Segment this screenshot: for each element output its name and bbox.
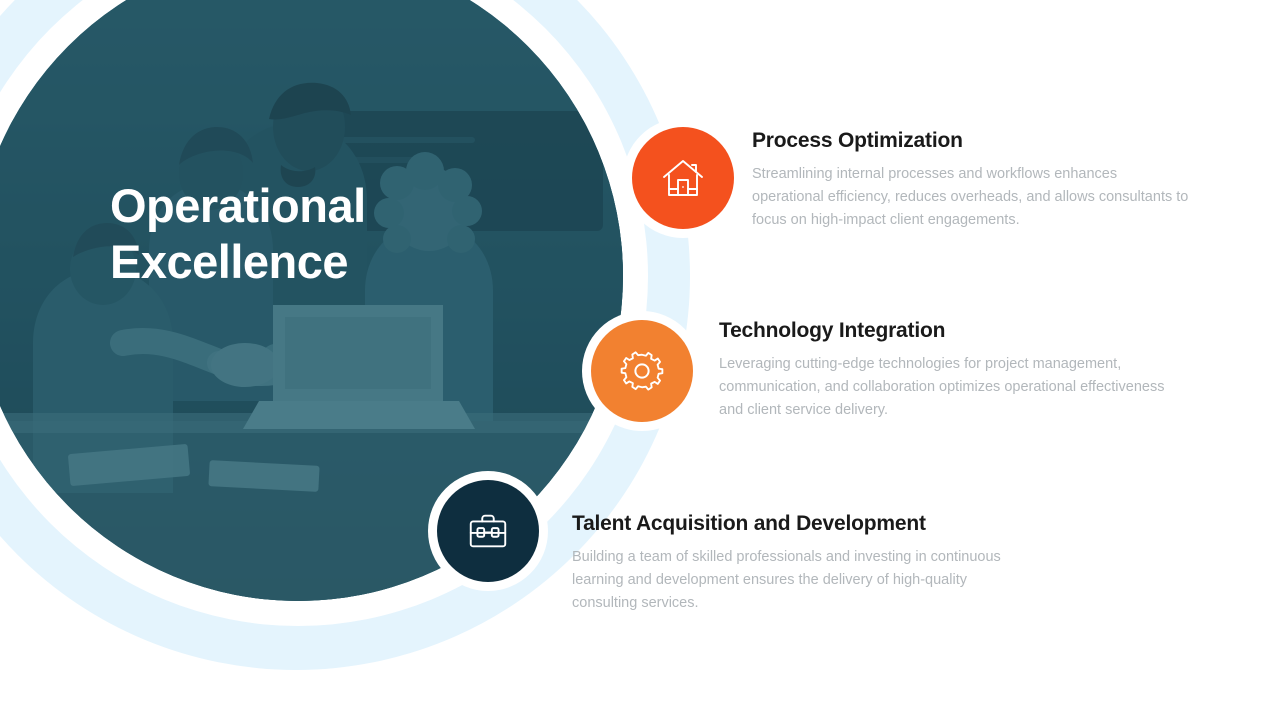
feature-icon-halo — [437, 480, 539, 582]
page-title-line-1: Operational — [110, 178, 530, 234]
feature-text: Technology Integration Leveraging cuttin… — [719, 319, 1169, 422]
feature-title: Talent Acquisition and Development — [572, 512, 1022, 536]
feature-title: Process Optimization — [752, 129, 1192, 153]
gear-icon-circle[interactable] — [591, 320, 693, 422]
gear-icon — [618, 347, 666, 395]
house-icon — [659, 154, 707, 202]
feature-description: Building a team of skilled professionals… — [572, 546, 1022, 615]
feature-description: Streamlining internal processes and work… — [752, 163, 1192, 232]
house-icon-circle[interactable] — [632, 127, 734, 229]
briefcase-icon-circle[interactable] — [437, 480, 539, 582]
feature-icon-halo — [591, 320, 693, 422]
page-title: Operational Excellence — [110, 178, 530, 291]
feature-description: Leveraging cutting-edge technologies for… — [719, 353, 1169, 422]
feature-title: Technology Integration — [719, 319, 1169, 343]
slide-canvas: Operational Excellence Process Optimizat… — [0, 0, 1280, 720]
feature-text: Talent Acquisition and Development Build… — [572, 512, 1022, 615]
feature-text: Process Optimization Streamlining intern… — [752, 129, 1192, 232]
feature-icon-halo — [632, 127, 734, 229]
page-title-line-2: Excellence — [110, 234, 530, 290]
briefcase-icon — [465, 508, 511, 554]
